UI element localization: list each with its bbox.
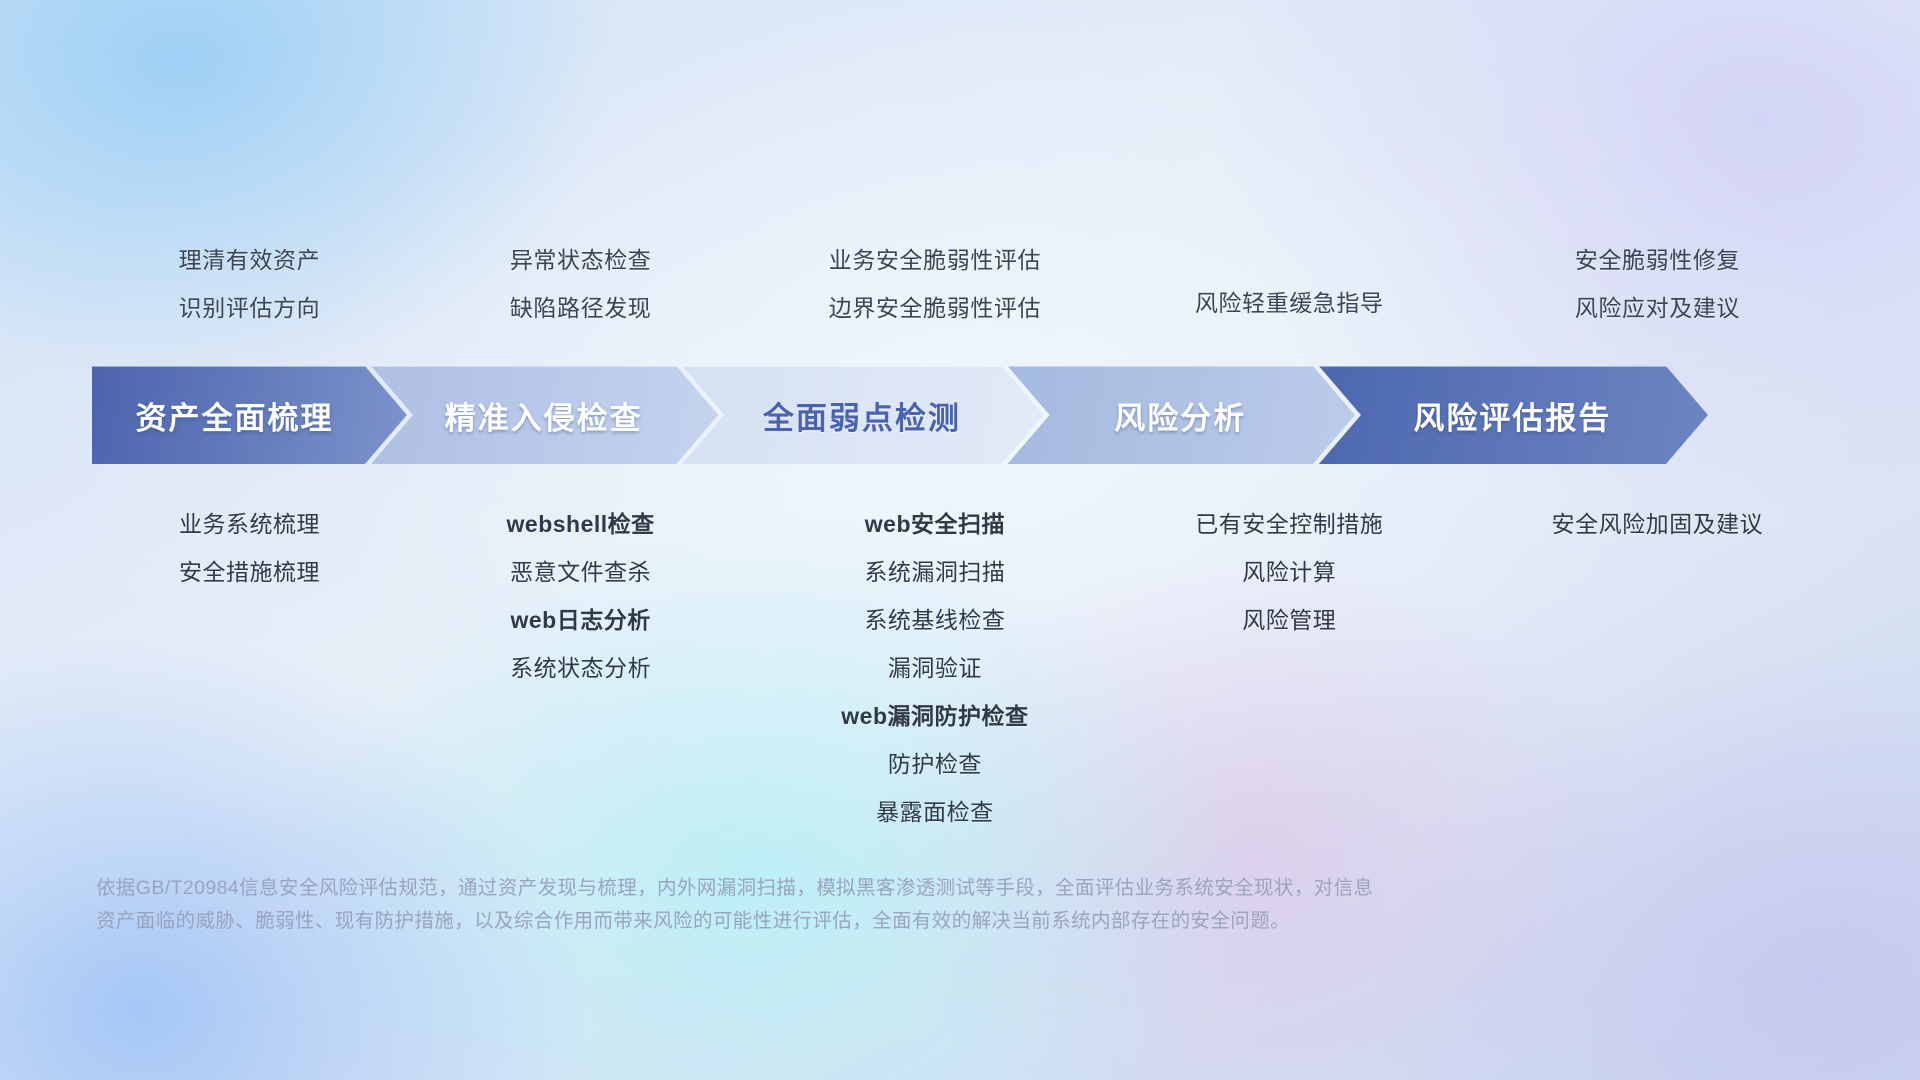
top-caption-group-assessment-report: 安全脆弱性修复风险应对及建议 bbox=[1463, 236, 1852, 346]
process-chevron-band: 资产全面梳理精准入侵检查全面弱点检测风险分析风险评估报告 bbox=[92, 366, 1852, 464]
top-caption: 业务安全脆弱性评估 bbox=[829, 236, 1041, 284]
bottom-item: 业务系统梳理 bbox=[179, 500, 320, 548]
top-caption: 缺陷路径发现 bbox=[510, 284, 652, 332]
stage-chevron-intrusion-check[interactable]: 精准入侵检查 bbox=[371, 366, 718, 464]
bottom-item: 系统基线检查 bbox=[864, 596, 1005, 644]
bottom-item: webshell检查 bbox=[507, 500, 655, 548]
bottom-item-group-weakness-detection: web安全扫描系统漏洞扫描系统基线检查漏洞验证web漏洞防护检查防护检查暴露面检… bbox=[754, 500, 1115, 836]
top-caption: 边界安全脆弱性评估 bbox=[829, 284, 1041, 332]
bottom-item: 已有安全控制措施 bbox=[1195, 500, 1383, 548]
bottom-details-row: 业务系统梳理安全措施梳理webshell检查恶意文件查杀web日志分析系统状态分… bbox=[0, 500, 1920, 836]
bottom-item: 漏洞验证 bbox=[888, 644, 982, 692]
stage-chevron-assessment-report[interactable]: 风险评估报告 bbox=[1319, 366, 1708, 464]
bottom-item-group-intrusion-check: webshell检查恶意文件查杀web日志分析系统状态分析 bbox=[407, 500, 754, 692]
bottom-item: 恶意文件查杀 bbox=[510, 548, 651, 596]
bottom-item: 安全风险加固及建议 bbox=[1552, 500, 1764, 548]
top-caption: 理清有效资产 bbox=[179, 236, 321, 284]
bottom-item: 安全措施梳理 bbox=[179, 548, 320, 596]
stage-chevron-weakness-detection[interactable]: 全面弱点检测 bbox=[682, 366, 1043, 464]
top-caption: 识别评估方向 bbox=[179, 284, 321, 332]
stage-chevron-asset-inventory[interactable]: 资产全面梳理 bbox=[92, 366, 407, 464]
top-captions-row: 理清有效资产识别评估方向异常状态检查缺陷路径发现业务安全脆弱性评估边界安全脆弱性… bbox=[0, 236, 1920, 346]
stage-label: 精准入侵检查 bbox=[417, 393, 673, 438]
footer-description: 依据GB/T20984信息安全风险评估规范，通过资产发现与梳理，内外网漏洞扫描，… bbox=[96, 872, 1736, 938]
footer-line-1: 依据GB/T20984信息安全风险评估规范，通过资产发现与梳理，内外网漏洞扫描，… bbox=[96, 872, 1736, 905]
bottom-item-group-asset-inventory: 业务系统梳理安全措施梳理 bbox=[92, 500, 407, 596]
bottom-item: web安全扫描 bbox=[865, 500, 1005, 548]
diagram-canvas: 理清有效资产识别评估方向异常状态检查缺陷路径发现业务安全脆弱性评估边界安全脆弱性… bbox=[0, 0, 1920, 1080]
bottom-item-group-risk-analysis: 已有安全控制措施风险计算风险管理 bbox=[1116, 500, 1463, 644]
bottom-item: 系统漏洞扫描 bbox=[864, 548, 1005, 596]
bottom-item: 防护检查 bbox=[888, 740, 982, 788]
bottom-item: 系统状态分析 bbox=[510, 644, 651, 692]
bottom-item: 风险管理 bbox=[1242, 596, 1336, 644]
stage-label: 全面弱点检测 bbox=[735, 393, 991, 438]
bottom-item: web漏洞防护检查 bbox=[841, 692, 1028, 740]
bottom-item: 暴露面检查 bbox=[876, 788, 994, 836]
top-caption: 风险轻重缓急指导 bbox=[1195, 279, 1384, 327]
top-caption-group-asset-inventory: 理清有效资产识别评估方向 bbox=[92, 236, 407, 346]
top-caption: 风险应对及建议 bbox=[1575, 284, 1740, 332]
stage-label: 风险评估报告 bbox=[1385, 393, 1641, 438]
footer-line-2: 资产面临的威胁、脆弱性、现有防护措施，以及综合作用而带来风险的可能性进行评估，全… bbox=[96, 905, 1736, 938]
stage-label: 资产全面梳理 bbox=[135, 393, 363, 438]
top-caption-group-weakness-detection: 业务安全脆弱性评估边界安全脆弱性评估 bbox=[754, 236, 1115, 346]
top-caption-group-intrusion-check: 异常状态检查缺陷路径发现 bbox=[407, 236, 754, 346]
bottom-item: 风险计算 bbox=[1242, 548, 1336, 596]
top-caption-group-risk-analysis: 风险轻重缓急指导 bbox=[1116, 236, 1463, 346]
top-caption: 安全脆弱性修复 bbox=[1575, 236, 1740, 284]
stage-chevron-risk-analysis[interactable]: 风险分析 bbox=[1008, 366, 1355, 464]
bottom-item-group-assessment-report: 安全风险加固及建议 bbox=[1463, 500, 1852, 548]
top-caption: 异常状态检查 bbox=[510, 236, 652, 284]
bottom-item: web日志分析 bbox=[511, 596, 651, 644]
stage-label: 风险分析 bbox=[1086, 393, 1276, 438]
